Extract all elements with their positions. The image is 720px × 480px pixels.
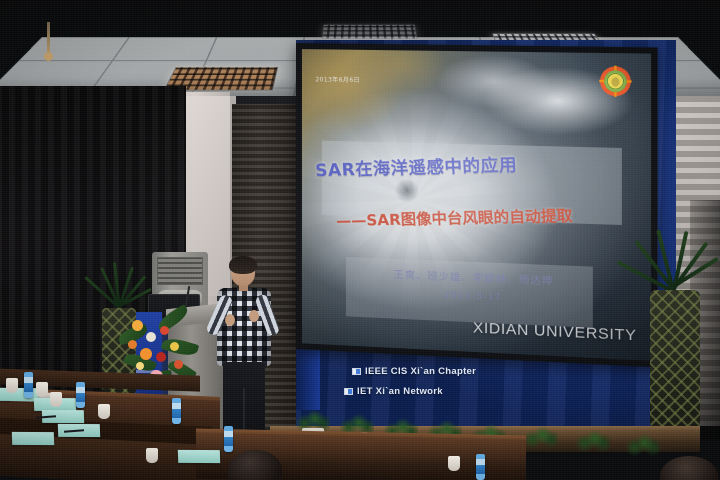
xidian-university-seal-icon <box>599 65 631 97</box>
flag-icon <box>352 368 361 375</box>
water-bottle[interactable] <box>76 382 85 408</box>
pendant-cable <box>47 22 50 56</box>
slide-corner-date: 2013年6月6日 <box>315 74 360 84</box>
pendant-bulb <box>44 52 53 61</box>
conference-room-photo: 2013年6月6日 SAR在海洋遥感中的应用 —— <box>0 0 720 480</box>
banner-line-iet-text: IET Xi`an Network <box>357 386 443 397</box>
presenter <box>215 258 273 448</box>
paper-cup[interactable] <box>36 382 48 397</box>
water-bottle[interactable] <box>172 398 181 424</box>
lattice-planter <box>650 290 700 428</box>
banner-line-ieee-text: IEEE CIS Xi`an Chapter <box>365 366 476 377</box>
water-bottle[interactable] <box>476 454 485 480</box>
paper-cup[interactable] <box>50 392 62 407</box>
ac-vent-grille <box>157 257 203 285</box>
bottle-label <box>24 383 33 392</box>
flag-icon <box>344 388 353 395</box>
ceiling-light-fixture <box>322 24 418 38</box>
audience-member-head <box>660 456 718 480</box>
notepad[interactable] <box>12 432 54 445</box>
bottle-label <box>476 465 485 474</box>
presenter-right-hand <box>249 310 259 322</box>
notepad[interactable] <box>178 450 220 463</box>
water-bottle[interactable] <box>224 426 233 452</box>
bottle-label <box>76 393 85 402</box>
banner-line-iet: IET Xi`an Network <box>344 386 443 397</box>
paper-cup[interactable] <box>448 456 460 471</box>
bottle-label <box>172 409 181 418</box>
potted-plant <box>626 434 660 456</box>
water-bottle[interactable] <box>24 372 33 398</box>
paper-cup[interactable] <box>146 448 158 463</box>
potted-plant <box>576 430 610 452</box>
presenter-hair <box>229 256 257 274</box>
potted-palm-right <box>636 228 712 428</box>
potted-plant <box>524 426 558 448</box>
projection-screen-frame: 2013年6月6日 SAR在海洋遥感中的应用 —— <box>296 43 658 367</box>
projection-screen: 2013年6月6日 SAR在海洋遥感中的应用 —— <box>302 49 651 361</box>
paper-cup[interactable] <box>6 378 18 393</box>
paper-cup[interactable] <box>98 404 110 419</box>
presenter-left-hand <box>225 314 235 326</box>
banner-line-ieee: IEEE CIS Xi`an Chapter <box>352 366 476 377</box>
bottle-label <box>224 437 233 446</box>
